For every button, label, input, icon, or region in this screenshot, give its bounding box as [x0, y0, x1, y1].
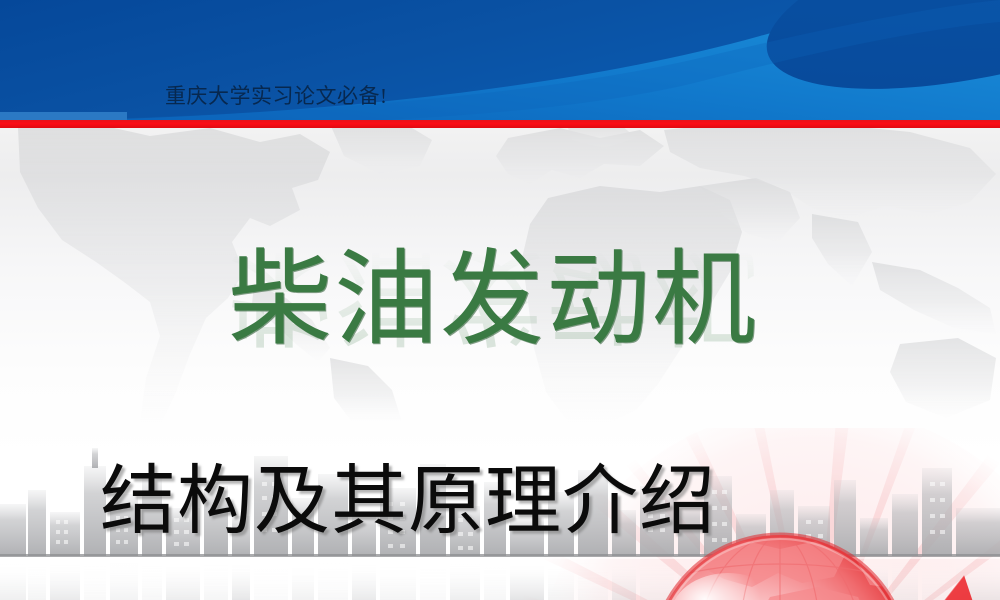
- slide-header-band: 重庆大学实习论文必备!: [0, 0, 1000, 121]
- header-red-divider: [0, 120, 1000, 128]
- main-title: 柴油发动机: [228, 246, 758, 355]
- header-title-text: 重庆大学实习论文必备!: [165, 86, 388, 107]
- blue-swoosh-shape-icon: [0, 0, 1000, 121]
- title-group: 柴油发动机 柴油发动机: [0, 246, 1000, 416]
- presentation-slide: 重庆大学实习论文必备! 柴油发动机 柴油发动机 结构及其原理介绍: [0, 0, 1000, 600]
- subtitle: 结构及其原理介绍: [100, 462, 716, 542]
